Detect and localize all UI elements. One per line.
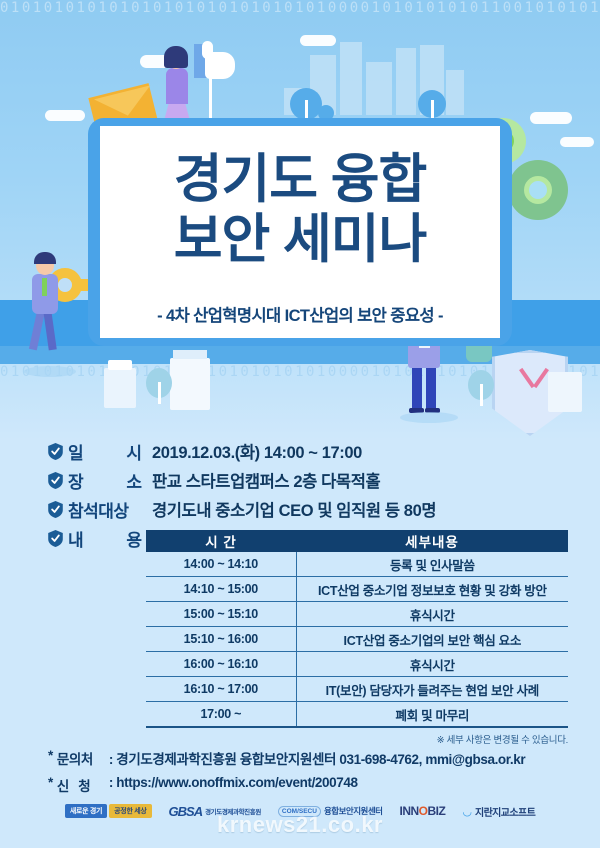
bullet-star: * (48, 748, 53, 768)
table-row: 14:00 ~ 14:10 등록 및 인사말씀 (146, 552, 568, 577)
table-cell-time: 16:00 ~ 16:10 (146, 652, 297, 676)
tree-trunk (305, 100, 308, 120)
contact-value-inquiry: : 경기도경제과학진흥원 융합보안지원센터 031-698-4762, mmi@… (109, 748, 525, 768)
building-medium (170, 358, 210, 410)
info-label-char: 장 (68, 468, 84, 493)
cloud-icon (45, 110, 85, 121)
contact-value-apply-url[interactable]: : https://www.onoffmix.com/event/200748 (109, 775, 358, 795)
info-value-audience: 경기도내 중소기업 CEO 및 임직원 등 80명 (142, 497, 436, 521)
info-label-char: 내 (68, 526, 84, 551)
table-row: 16:10 ~ 17:00 IT(보안) 담당자가 들려주는 현업 보안 사례 (146, 677, 568, 702)
table-cell-detail: 등록 및 인사말씀 (297, 555, 568, 574)
info-label-char: 시 (126, 439, 142, 464)
page-title: 경기도 융합 보안 세미나 (100, 150, 500, 270)
table-row: 17:00 ~ 폐회 및 마무리 (146, 702, 568, 728)
key-bow-hole (58, 278, 72, 292)
building-small (548, 372, 582, 412)
table-cell-time: 15:00 ~ 15:10 (146, 602, 297, 626)
schedule-table: 시 간 세부내용 14:00 ~ 14:10 등록 및 인사말씀 14:10 ~… (146, 530, 568, 746)
tree-trunk (480, 384, 483, 406)
info-label-content: 내 용 (68, 526, 142, 551)
contact-key-apply: 신청 (57, 775, 109, 795)
info-value-place: 판교 스타트업캠퍼스 2층 다목적홀 (142, 468, 380, 492)
building-shape (366, 62, 392, 115)
tree-trunk (158, 382, 161, 404)
table-header-row: 시 간 세부내용 (146, 530, 568, 552)
table-cell-detail: ICT산업 중소기업 정보보호 현황 및 강화 방안 (297, 580, 568, 599)
man-right-legs (426, 364, 436, 410)
info-row-place: 장 소 판교 스타트업캠퍼스 2층 다목적홀 (48, 467, 568, 493)
contact-block: * 문의처 : 경기도경제과학진흥원 융합보안지원센터 031-698-4762… (48, 748, 588, 802)
contact-key-inquiry: 문의처 (57, 748, 109, 768)
shield-check-icon (48, 472, 63, 489)
contact-key-char: 청 (78, 779, 99, 794)
table-cell-time: 17:00 ~ (146, 702, 297, 726)
table-cell-time: 14:10 ~ 15:00 (146, 577, 297, 601)
building-antenna (173, 350, 207, 359)
thumbs-up-thumb (202, 41, 213, 59)
tree-trunk (431, 100, 434, 120)
figure-shadow (400, 412, 458, 423)
shield-check-icon (48, 530, 63, 547)
table-row: 14:10 ~ 15:00 ICT산업 중소기업 정보보호 현황 및 강화 방안 (146, 577, 568, 602)
table-cell-detail: 폐회 및 마무리 (297, 705, 568, 724)
shield-check-icon (48, 501, 63, 518)
table-cell-detail: IT(보안) 담당자가 들려주는 현업 보안 사례 (297, 680, 568, 699)
info-label-date: 일 시 (68, 439, 142, 464)
figure-shadow (24, 366, 76, 377)
building-shape (340, 42, 362, 115)
table-row: 15:00 ~ 15:10 휴식시간 (146, 602, 568, 627)
contact-line-apply[interactable]: * 신청 : https://www.onoffmix.com/event/20… (48, 775, 588, 795)
cloud-icon (560, 137, 594, 147)
title-line-2: 보안 세미나 (100, 210, 500, 270)
info-label-place: 장 소 (68, 468, 142, 493)
contact-line-inquiry: * 문의처 : 경기도경제과학진흥원 융합보안지원센터 031-698-4762… (48, 748, 588, 768)
info-label-audience: 참석대상 (68, 497, 142, 522)
table-cell-time: 14:00 ~ 14:10 (146, 552, 297, 576)
building-small (104, 368, 136, 408)
info-value-date: 2019.12.03.(화) 14:00 ~ 17:00 (142, 439, 362, 463)
shield-check-icon (48, 443, 63, 460)
table-header-time: 시 간 (146, 531, 296, 551)
contact-key-char: 신 (57, 779, 78, 794)
title-line-1: 경기도 융합 (100, 150, 500, 210)
poster-root: 0101010101010101010101010101010000101010… (0, 0, 600, 848)
table-cell-detail: ICT산업 중소기업의 보안 핵심 요소 (297, 630, 568, 649)
gear-hub (524, 176, 552, 204)
watermark: krnews21.co.kr (0, 812, 600, 838)
woman-torso (166, 68, 188, 104)
man-left-tie (42, 278, 47, 296)
table-header-detail: 세부내용 (296, 531, 568, 551)
cloud-icon (300, 35, 336, 46)
info-row-date: 일 시 2019.12.03.(화) 14:00 ~ 17:00 (48, 438, 568, 464)
table-cell-detail: 휴식시간 (297, 605, 568, 624)
bullet-star: * (48, 775, 53, 795)
man-right-legs (412, 364, 422, 410)
info-label-char: 소 (126, 468, 142, 493)
info-label-char: 일 (68, 439, 84, 464)
table-note: ※ 세부 사항은 변경될 수 있습니다. (146, 732, 568, 746)
building-shape (396, 48, 416, 115)
woman-hair (164, 46, 188, 68)
table-cell-time: 15:10 ~ 16:00 (146, 627, 297, 651)
cloud-icon (530, 112, 572, 124)
table-cell-detail: 휴식시간 (297, 655, 568, 674)
info-label-char: 용 (126, 526, 142, 551)
building-shape (446, 70, 464, 115)
table-cell-time: 16:10 ~ 17:00 (146, 677, 297, 701)
page-subtitle: - 4차 산업혁명시대 ICT산업의 보안 중요성 - (100, 302, 500, 326)
building-roof (108, 360, 132, 370)
table-row: 15:10 ~ 16:00 ICT산업 중소기업의 보안 핵심 요소 (146, 627, 568, 652)
man-left-hair (34, 252, 56, 264)
table-row: 16:00 ~ 16:10 휴식시간 (146, 652, 568, 677)
info-row-audience: 참석대상 경기도내 중소기업 CEO 및 임직원 등 80명 (48, 496, 568, 522)
